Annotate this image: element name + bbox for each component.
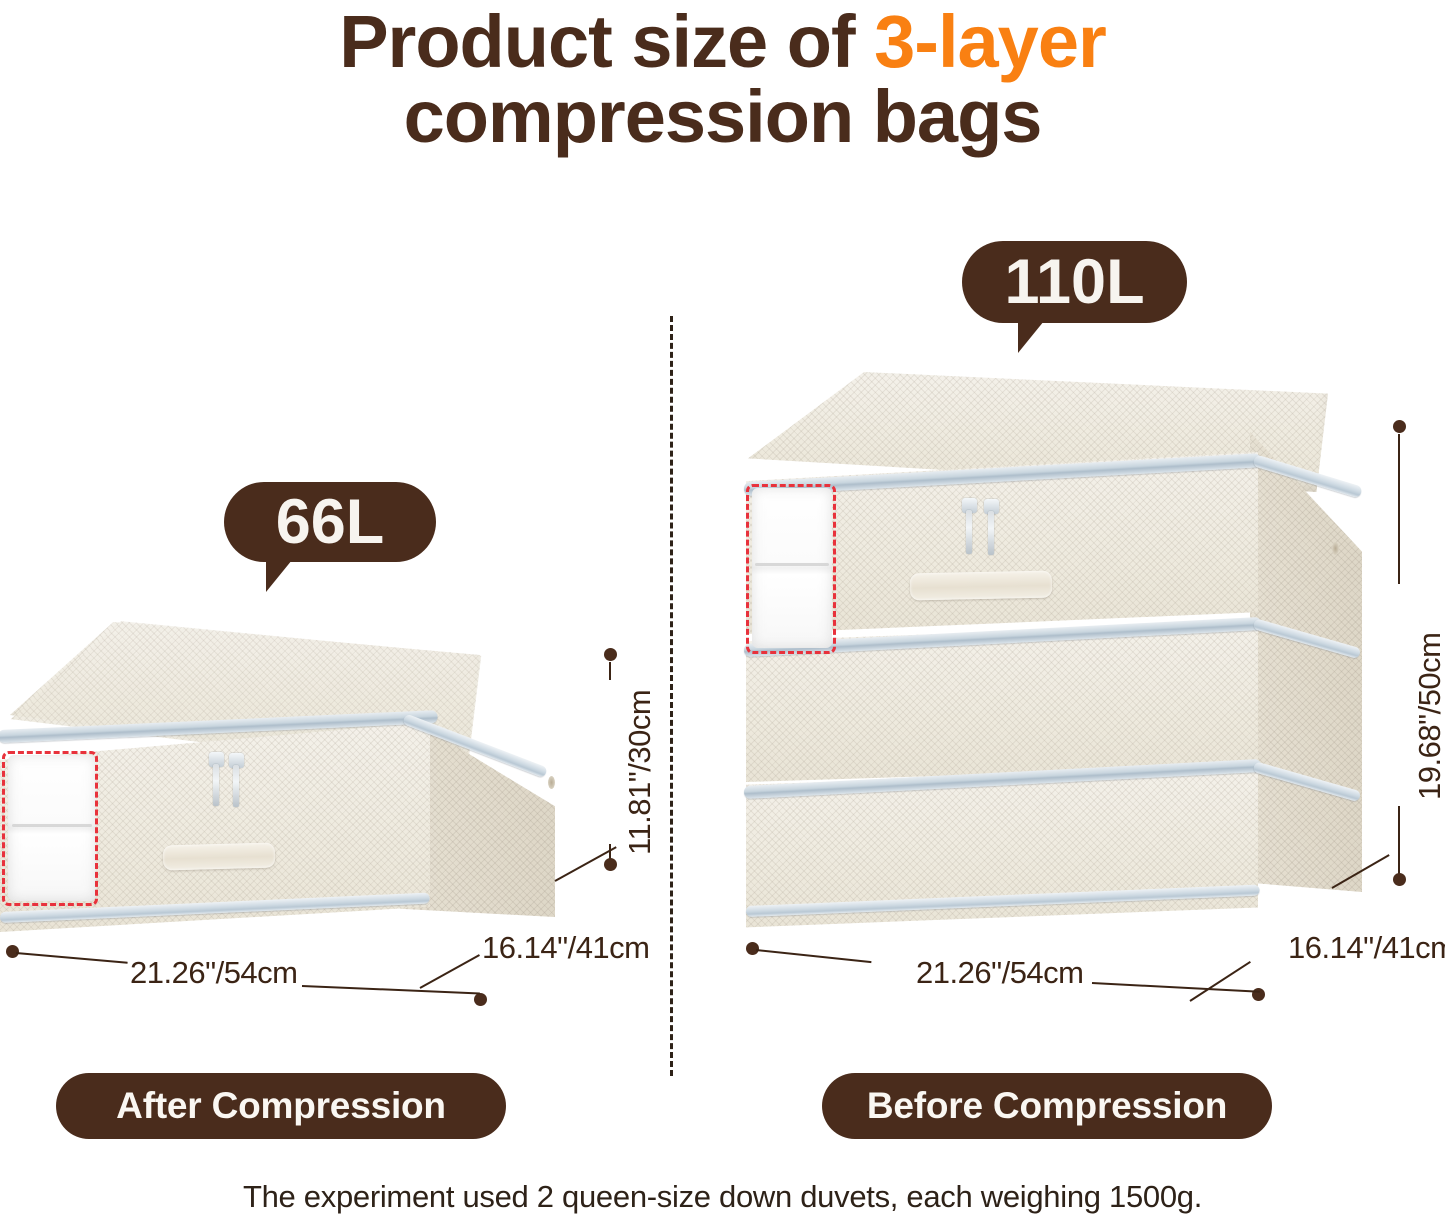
footnote: The experiment used 2 queen-size down du… [0, 1179, 1445, 1215]
dimension-dot [1393, 873, 1406, 886]
capacity-badge-110l-label: 110L [1004, 251, 1144, 314]
dimension-line [756, 949, 872, 963]
dimension-width-right-label: 21.26"/54cm [916, 955, 1084, 991]
dimension-line [1398, 434, 1400, 584]
section-divider [670, 316, 673, 1076]
title-line1-highlight: 3-layer [874, 0, 1106, 83]
vent-grommet [1332, 542, 1339, 555]
dimension-line [1189, 961, 1250, 1002]
zipper-pull-right[interactable] [988, 511, 994, 555]
title-line2: compression bags [0, 79, 1445, 154]
carry-handle[interactable] [163, 843, 276, 871]
dimension-line [609, 662, 611, 680]
bag-side-face [1250, 432, 1362, 892]
dimension-height-left-label: 11.81"/30cm [622, 690, 658, 855]
page-title: Product size of 3-layer compression bags [0, 4, 1445, 155]
infographic-canvas: Product size of 3-layer compression bags… [0, 0, 1445, 1225]
dimension-dot [1393, 420, 1406, 433]
capacity-badge-110l: 110L [962, 241, 1187, 323]
transparent-window [8, 755, 96, 901]
zipper-pull-right[interactable] [233, 765, 239, 807]
dimension-height-right-label: 19.68"/50cm [1412, 633, 1445, 801]
dimension-width-left-label: 21.26"/54cm [130, 955, 298, 991]
dimension-dot [604, 858, 617, 871]
compression-bag-after [0, 612, 600, 962]
dimension-line [1398, 806, 1400, 878]
label-after-compression-text: After Compression [116, 1085, 446, 1127]
transparent-window [752, 488, 832, 648]
label-before-compression-text: Before Compression [867, 1085, 1227, 1127]
zipper-pull-left[interactable] [966, 510, 972, 554]
vent-grommet [548, 776, 555, 789]
badge-tail [266, 560, 292, 592]
dimension-depth-right-label: 16.14"/41cm [1288, 930, 1445, 966]
title-line1-prefix: Product size of [339, 0, 874, 83]
capacity-badge-66l: 66L [224, 482, 436, 562]
dimension-dot [604, 648, 617, 661]
label-after-compression: After Compression [56, 1073, 506, 1139]
dimension-dot [474, 993, 487, 1006]
capacity-badge-66l-label: 66L [276, 491, 385, 554]
dimension-depth-left-label: 16.14"/41cm [482, 930, 650, 966]
zipper-pull-left[interactable] [213, 764, 219, 806]
dimension-line [302, 985, 480, 994]
dimension-line [1092, 982, 1260, 993]
label-before-compression: Before Compression [822, 1073, 1272, 1139]
badge-tail [1018, 321, 1044, 353]
compression-bag-before [730, 372, 1370, 932]
carry-handle[interactable] [910, 571, 1053, 601]
